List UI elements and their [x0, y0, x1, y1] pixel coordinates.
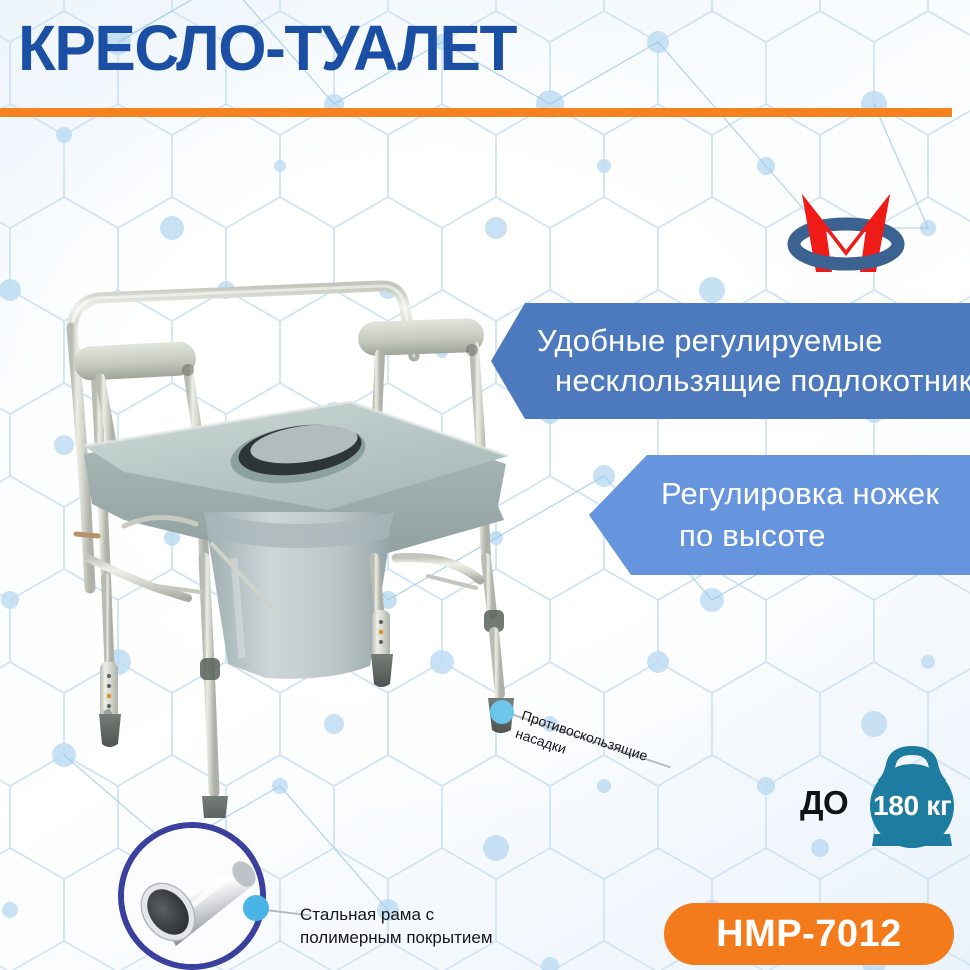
page-title: КРЕСЛО-ТУАЛЕТ — [18, 16, 531, 80]
model-code-badge: HMP-7012 — [664, 903, 954, 965]
frame-callout-dot — [243, 895, 269, 921]
model-code-text: HMP-7012 — [716, 913, 902, 956]
feature-banner-legs: Регулировка ножек по высоте — [589, 455, 970, 575]
feature-legs-line1: Регулировка ножек — [661, 473, 970, 515]
frame-callout-line2: полимерным покрытием — [300, 926, 493, 949]
title-underline-rule — [0, 108, 952, 117]
max-weight-badge: ДО 180 кг — [800, 738, 968, 850]
feature-banner-armrests: Удобные регулируемые несклользящие подло… — [491, 303, 970, 419]
max-weight-value: 180 кг — [852, 790, 970, 822]
frame-callout-line1: Стальная рама с — [300, 903, 493, 926]
chair-legs-front — [99, 558, 228, 818]
steel-tube-illustration — [124, 828, 260, 964]
product-infographic: КРЕСЛО-ТУАЛЕТ — [0, 0, 970, 970]
feature-armrests-line1: Удобные регулируемые — [537, 321, 970, 361]
kettlebell-icon: 180 кг — [852, 738, 970, 850]
feature-legs-line2: по высоте — [661, 515, 970, 557]
frame-callout-label: Стальная рама с полимерным покрытием — [300, 903, 493, 949]
feature-armrests-line2: несклользящие подлокотники — [537, 361, 970, 401]
antislip-callout-dot — [490, 700, 514, 724]
antislip-tip-center-left — [202, 796, 228, 818]
armed-m-logo — [780, 178, 912, 282]
antislip-tip-left — [99, 714, 121, 747]
max-weight-prefix: ДО — [800, 784, 848, 822]
steel-tube-inset-photo — [118, 822, 266, 970]
page-title-text: КРЕСЛО-ТУАЛЕТ — [18, 16, 516, 80]
commode-bucket — [204, 512, 394, 679]
antislip-tip-mid — [371, 654, 393, 687]
commode-chair-photo — [28, 258, 548, 818]
